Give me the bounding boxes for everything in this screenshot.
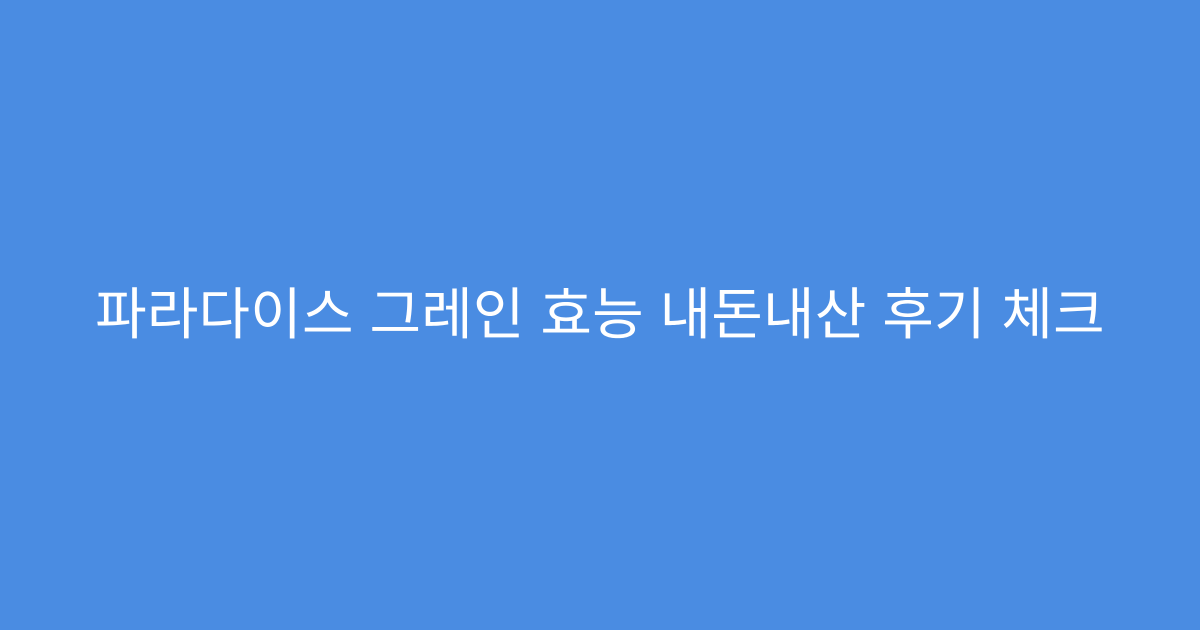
headline-container: 파라다이스 그레인 효능 내돈내산 후기 체크 xyxy=(50,279,1150,351)
page-title: 파라다이스 그레인 효능 내돈내산 후기 체크 xyxy=(95,279,1105,351)
share-card: 파라다이스 그레인 효능 내돈내산 후기 체크 xyxy=(0,0,1200,630)
